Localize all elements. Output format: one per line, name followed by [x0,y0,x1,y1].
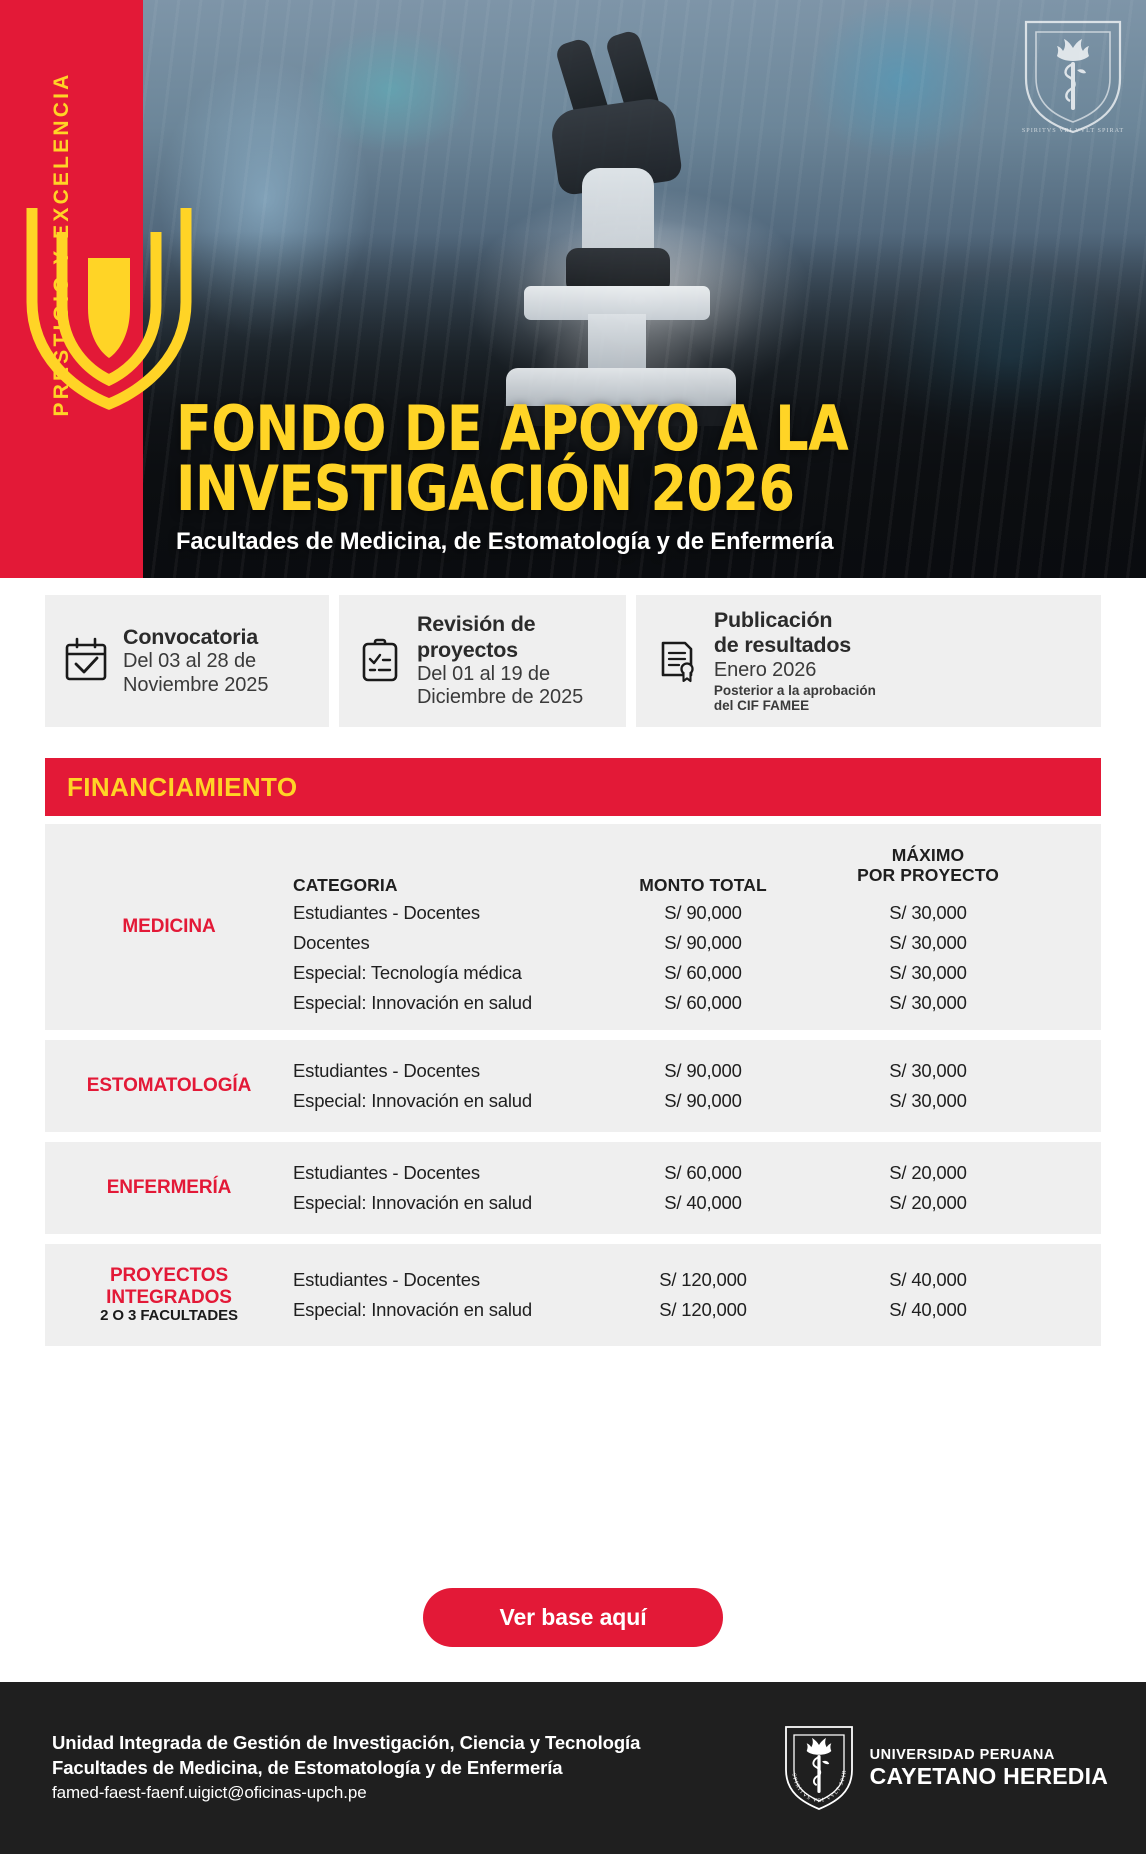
cell-total: S/ 90,000 [593,1060,813,1082]
financing-header-label: FINANCIAMIENTO [67,772,297,803]
cell-total: S/ 60,000 [593,962,813,984]
table-row: Estudiantes - Docentes S/ 90,000 S/ 30,0… [293,898,1101,928]
table-row: Especial: Tecnología médica S/ 60,000 S/… [293,958,1101,988]
svg-text:SPIRITVS VBI VVLT SPIRAT: SPIRITVS VBI VVLT SPIRAT [782,1722,848,1804]
hero-subtitle: Facultades de Medicina, de Estomatología… [176,528,1078,556]
cell-category: Estudiantes - Docentes [293,1269,593,1291]
card-note-line2: del CIF FAMEE [714,698,876,713]
card-title-line2: de resultados [714,633,876,658]
upch-footer-logo: SPIRITVS VBI VVLT SPIRAT UNIVERSIDAD PER… [782,1722,1108,1814]
card-date-line1: Del 01 al 19 de [417,663,583,686]
cell-total: S/ 40,000 [593,1192,813,1214]
upch-crest-icon: SPIRITVS VBI VVLT SPIRAT [1020,14,1126,138]
cell-max: S/ 20,000 [813,1192,1043,1214]
prestige-side-band: PRESTIGIO Y EXCELENCIA [0,0,143,578]
card-publicacion: Publicación de resultados Enero 2026 Pos… [636,595,1101,727]
cell-category: Especial: Tecnología médica [293,962,593,984]
table-row: Especial: Innovación en salud S/ 60,000 … [293,988,1101,1018]
hero-title-line2: INVESTIGACIÓN 2026 [176,459,1050,519]
cell-total: S/ 90,000 [593,1090,813,1112]
cell-max: S/ 20,000 [813,1162,1043,1184]
card-title: Convocatoria [123,625,268,650]
footer: Unidad Integrada de Gestión de Investiga… [0,1682,1146,1854]
card-date-line1: Del 03 al 28 de [123,650,268,673]
cell-max: S/ 40,000 [813,1269,1043,1291]
hero-text-block: FONDO DE APOYO A LA INVESTIGACIÓN 2026 F… [176,399,1106,556]
card-note-line1: Posterior a la aprobación [714,683,876,698]
cell-max: S/ 30,000 [813,932,1043,954]
cell-max: S/ 30,000 [813,1090,1043,1112]
table-row: Estudiantes - Docentes S/ 90,000 S/ 30,0… [293,1056,1101,1086]
cell-total: S/ 90,000 [593,932,813,954]
cell-category: Docentes [293,932,593,954]
cell-category: Especial: Innovación en salud [293,1192,593,1214]
footer-email[interactable]: famed-faest-faenf.uigict@oficinas-upch.p… [52,1782,640,1805]
faculty-label: MEDICINA [45,916,293,937]
table-header-row: CATEGORIA MONTO TOTAL MÁXIMO POR PROYECT… [293,836,1101,898]
column-header-total: MONTO TOTAL [593,876,813,896]
card-title-line1: Revisión de [417,612,583,637]
table-row: Docentes S/ 90,000 S/ 30,000 [293,928,1101,958]
cell-category: Estudiantes - Docentes [293,1060,593,1082]
cell-category: Especial: Innovación en salud [293,992,593,1014]
table-section-medicina: MEDICINA CATEGORIA MONTO TOTAL MÁXIMO PO… [45,824,1101,1030]
card-revision: Revisión de proyectos Del 01 al 19 de Di… [339,595,626,727]
cell-category: Estudiantes - Docentes [293,1162,593,1184]
table-section-enfermeria: ENFERMERÍA Estudiantes - Docentes S/ 60,… [45,1142,1101,1234]
prestige-band-label: PRESTIGIO Y EXCELENCIA [50,64,74,424]
timeline-cards: Convocatoria Del 03 al 28 de Noviembre 2… [45,595,1101,727]
certificate-icon [654,636,700,686]
cell-total: S/ 120,000 [593,1269,813,1291]
table-row: Especial: Innovación en salud S/ 40,000 … [293,1188,1101,1218]
faculty-label: PROYECTOS INTEGRADOS 2 O 3 FACULTADES [45,1265,293,1324]
svg-text:SPIRITVS VBI VVLT SPIRAT: SPIRITVS VBI VVLT SPIRAT [1022,127,1124,134]
upch-crest-icon: SPIRITVS VBI VVLT SPIRAT [782,1722,856,1814]
cell-max: S/ 40,000 [813,1299,1043,1321]
card-date-line2: Diciembre de 2025 [417,686,583,709]
ver-base-button[interactable]: Ver base aquí [423,1588,723,1647]
cell-total: S/ 90,000 [593,902,813,924]
footer-line1: Unidad Integrada de Gestión de Investiga… [52,1731,640,1756]
hero-title-line1: FONDO DE APOYO A LA [176,399,1050,459]
column-header-max: MÁXIMO POR PROYECTO [813,846,1043,885]
cell-category: Especial: Innovación en salud [293,1090,593,1112]
financing-table: MEDICINA CATEGORIA MONTO TOTAL MÁXIMO PO… [45,824,1101,1356]
cell-max: S/ 30,000 [813,992,1043,1014]
microscope-illustration [470,18,770,418]
cell-max: S/ 30,000 [813,902,1043,924]
card-title-line1: Publicación [714,608,876,633]
table-section-proyectos-integrados: PROYECTOS INTEGRADOS 2 O 3 FACULTADES Es… [45,1244,1101,1346]
faculty-label: ESTOMATOLOGÍA [45,1075,293,1096]
poster-root: PRESTIGIO Y EXCELENCIA SPIRITVS VBI VVLT… [0,0,1146,1854]
table-row: Especial: Innovación en salud S/ 90,000 … [293,1086,1101,1116]
table-row: Estudiantes - Docentes S/ 120,000 S/ 40,… [293,1265,1101,1295]
faculty-note: 2 O 3 FACULTADES [45,1308,293,1325]
cell-category: Especial: Innovación en salud [293,1299,593,1321]
cell-category: Estudiantes - Docentes [293,902,593,924]
card-date-line2: Noviembre 2025 [123,674,268,697]
cell-total: S/ 120,000 [593,1299,813,1321]
cell-max: S/ 30,000 [813,962,1043,984]
financing-header: FINANCIAMIENTO [45,758,1101,816]
footer-line2: Facultades de Medicina, de Estomatología… [52,1756,640,1781]
logo-line-bottom: CAYETANO HEREDIA [870,1764,1108,1788]
cell-max: S/ 30,000 [813,1060,1043,1082]
calendar-check-icon [63,636,109,686]
cell-total: S/ 60,000 [593,1162,813,1184]
cell-total: S/ 60,000 [593,992,813,1014]
faculty-label-text: PROYECTOS INTEGRADOS [106,1265,232,1307]
card-date-line1: Enero 2026 [714,659,876,682]
table-row: Especial: Innovación en salud S/ 120,000… [293,1295,1101,1325]
faculty-label: ENFERMERÍA [45,1177,293,1198]
column-header-category: CATEGORIA [293,876,593,896]
clipboard-check-icon [357,636,403,686]
table-section-estomatologia: ESTOMATOLOGÍA Estudiantes - Docentes S/ … [45,1040,1101,1132]
card-convocatoria: Convocatoria Del 03 al 28 de Noviembre 2… [45,595,329,727]
cta-wrapper: Ver base aquí [0,1588,1146,1647]
logo-line-top: UNIVERSIDAD PERUANA [870,1748,1108,1763]
table-row: Estudiantes - Docentes S/ 60,000 S/ 20,0… [293,1158,1101,1188]
hero-banner: PRESTIGIO Y EXCELENCIA SPIRITVS VBI VVLT… [0,0,1146,578]
card-title-line2: proyectos [417,638,583,663]
